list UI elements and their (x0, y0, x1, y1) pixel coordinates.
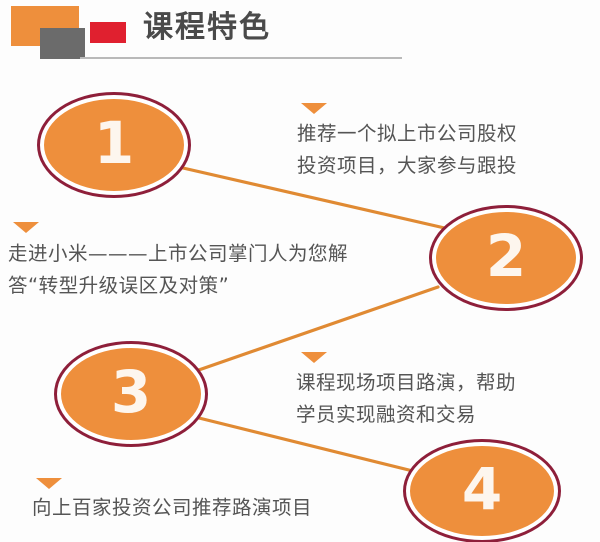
step-text-1: 推荐一个拟上市公司股权 投资项目，大家参与跟投 (297, 118, 597, 182)
step-number-2: 2 (486, 227, 526, 285)
step-text-3: 课程现场项目路演，帮助 学员实现融资和交易 (296, 367, 596, 431)
step-node-4[interactable]: 4 (406, 442, 558, 540)
step-node-1[interactable]: 1 (40, 95, 188, 195)
step-number-4: 4 (462, 460, 502, 518)
chevron-down-icon (36, 478, 62, 489)
step-number-3: 3 (111, 363, 151, 421)
chevron-down-icon (301, 352, 327, 363)
infographic-canvas: 课程特色 1 推荐一个拟上市公司股权 投资项目，大家参与跟投 2 走进小米———… (0, 0, 600, 542)
step-node-2[interactable]: 2 (432, 208, 580, 308)
step-node-3[interactable]: 3 (57, 344, 205, 444)
chevron-down-icon (13, 222, 39, 233)
step-number-1: 1 (94, 114, 134, 172)
chevron-down-icon (301, 103, 327, 114)
step-text-2: 走进小米———上市公司掌门人为您解 答“转型升级误区及对策” (8, 238, 428, 302)
step-text-4: 向上百家投资公司推荐路演项目 (32, 492, 432, 524)
